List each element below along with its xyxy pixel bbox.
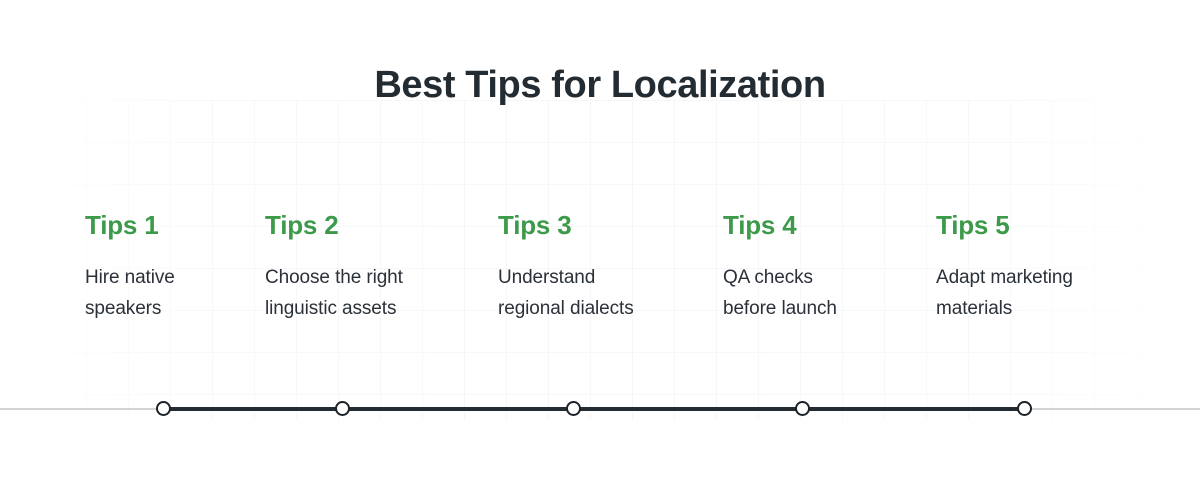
tip-body-2-line-2: linguistic assets bbox=[265, 293, 465, 324]
tip-heading-2: Tips 2 bbox=[265, 210, 465, 240]
tip-body-3-line-2: regional dialects bbox=[498, 293, 708, 324]
timeline bbox=[0, 380, 1200, 438]
tip-column-5: Tips 5 Adapt marketing materials bbox=[936, 210, 1146, 324]
timeline-rail-faint-left bbox=[0, 408, 166, 410]
page-title: Best Tips for Localization bbox=[0, 64, 1200, 107]
timeline-node-2[interactable] bbox=[335, 401, 350, 416]
tip-column-3: Tips 3 Understand regional dialects bbox=[498, 210, 708, 324]
tip-heading-5: Tips 5 bbox=[936, 210, 1146, 240]
tip-body-5: Adapt marketing materials bbox=[936, 262, 1146, 324]
timeline-rail-faint-right bbox=[1024, 408, 1200, 410]
tip-heading-3: Tips 3 bbox=[498, 210, 708, 240]
tip-heading-4: Tips 4 bbox=[723, 210, 913, 240]
timeline-rail bbox=[164, 407, 1025, 411]
tip-body-4: QA checks before launch bbox=[723, 262, 913, 324]
tip-body-5-line-2: materials bbox=[936, 293, 1146, 324]
timeline-node-1[interactable] bbox=[156, 401, 171, 416]
timeline-node-4[interactable] bbox=[795, 401, 810, 416]
tip-body-2-line-1: Choose the right bbox=[265, 262, 465, 293]
tip-heading-1: Tips 1 bbox=[85, 210, 255, 240]
tip-body-3: Understand regional dialects bbox=[498, 262, 708, 324]
tip-body-1-line-2: speakers bbox=[85, 293, 255, 324]
tip-body-3-line-1: Understand bbox=[498, 262, 708, 293]
tip-body-2: Choose the right linguistic assets bbox=[265, 262, 465, 324]
tip-body-4-line-1: QA checks bbox=[723, 262, 913, 293]
tip-column-2: Tips 2 Choose the right linguistic asset… bbox=[265, 210, 465, 324]
tip-column-4: Tips 4 QA checks before launch bbox=[723, 210, 913, 324]
timeline-node-3[interactable] bbox=[566, 401, 581, 416]
localization-tips-infographic: Best Tips for Localization Tips 1 Hire n… bbox=[0, 0, 1200, 499]
tip-body-1: Hire native speakers bbox=[85, 262, 255, 324]
tip-column-1: Tips 1 Hire native speakers bbox=[85, 210, 255, 324]
timeline-node-5[interactable] bbox=[1017, 401, 1032, 416]
tip-body-4-line-2: before launch bbox=[723, 293, 913, 324]
tip-body-1-line-1: Hire native bbox=[85, 262, 255, 293]
tip-body-5-line-1: Adapt marketing bbox=[936, 262, 1146, 293]
